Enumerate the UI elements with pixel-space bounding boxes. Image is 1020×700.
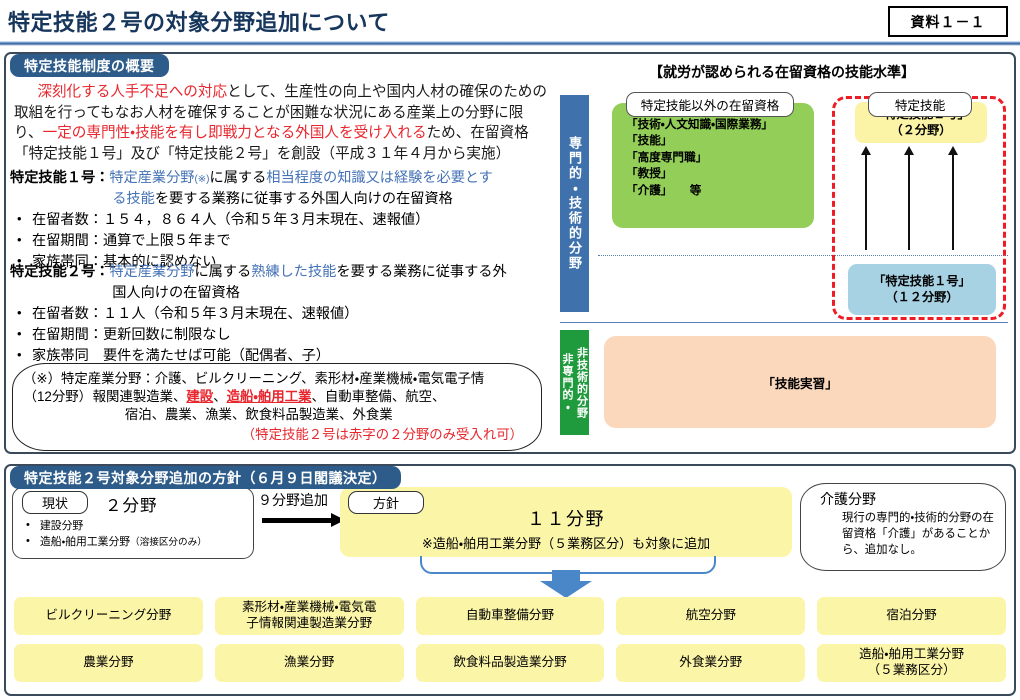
category-divider-solid [560,322,1008,323]
note-line2-wrap: （12分野）報関連製造業、建設、造船・舶用工業、自動車整備、航空、 [23,388,531,406]
field-box: 素形材・産業機械・電気電子情報関連製造業分野 [215,597,404,635]
field-row-1: ビルクリーニング分野 素形材・産業機械・電気電子情報関連製造業分野 自動車整備分… [14,597,1006,635]
list-item: 在留者数：１５４，８６４人（令和５年３月末現在、速報値） [10,210,550,231]
field-label-line1: 外食業分野 [679,655,742,671]
current-field-list: 建設分野 造船・舶用工業分野（溶接区分のみ） [20,518,250,551]
section-2-blue-1: 特定産業分野 [109,264,194,280]
green-item: 「教授」 [626,166,814,182]
field-label-line2: （５業務区分） [859,663,964,679]
section-1-blue-1: 特定産業分野 [109,170,194,186]
page-title: 特定技能２号の対象分野追加について [8,5,390,37]
field-label-line1: 飲食料品製造業分野 [453,655,566,671]
field-box: ビルクリーニング分野 [14,597,203,635]
note-label: （※）特定産業分野： [23,371,155,386]
added-fields-grid: ビルクリーニング分野 素形材・産業機械・電気電子情報関連製造業分野 自動車整備分… [14,597,1006,691]
ginou-jisshu-box: 「技能実習」 [604,336,996,428]
section-2-definition-line2: 国人向けの在留資格 [112,283,550,304]
slide-root: 特定技能２号の対象分野追加について 資料１－１ 特定技能制度の概要 深刻化する人… [0,0,1020,700]
field-box: 漁業分野 [215,644,404,682]
field-box: 航空分野 [616,597,805,635]
section-2-definition: 特定技能２号：特定産業分野に属する熟練した技能を要する業務に従事する外 国人向け… [10,262,550,303]
note-tail-red: （特定技能２号は赤字の２分野のみ受入れ可） [23,426,531,444]
skill-level-diagram: 【就労が認められる在留資格の技能水準】 専門的・技術的分野 非専門的・ 非技術的… [552,56,1012,450]
section-1-plain-1: に属する [210,170,267,186]
lead-red-2: 一定の専門性・技能を有し即戦力となる外国人を受け入れる [43,125,427,141]
tokutei-1-subtitle: （１２分野） [885,290,958,306]
note-count: （12分野） [23,388,93,406]
field-label-line1: 自動車整備分野 [466,608,554,624]
section-1-definition: 特定技能１号：特定産業分野(※)に属する相当程度の知識又は経験を必要とす る技能… [10,168,550,209]
field-label-line1: 農業分野 [83,655,133,671]
upgrade-arrow-1 [865,154,867,250]
policy-tag: 方針 [348,491,424,514]
caption-other-status: 特定技能以外の在留資格 [626,92,794,117]
section-tokutei-2: 特定技能２号：特定産業分野に属する熟練した技能を要する業務に従事する外 国人向け… [10,262,550,367]
list-item: 建設分野 [20,518,250,534]
field-label-line1: 素形材・産業機械・電気電 [242,600,377,616]
green-item: 「介護」 等 [626,183,814,199]
section-2-plain-1: に属する [194,264,251,280]
section-2-bullets: 在留者数：１１人（令和５年３月末現在、速報値） 在留期間：更新回数に制限なし 家… [10,304,550,367]
green-item: 「技能」 [626,133,814,149]
section-1-ref-mark: (※) [194,174,209,185]
field-label-line2: 子情報関連製造業分野 [242,616,377,632]
plan-note: ※造船・舶用工業分野（５業務区分）も対象に追加 [340,533,792,552]
section-1-heading: 特定技能１号： [10,170,109,186]
kaigo-title: 介護分野 [820,489,876,509]
list-item: 在留期間：更新回数に制限なし [10,325,550,346]
section-2-heading: 特定技能２号： [10,264,109,280]
section-tokutei-1: 特定技能１号：特定産業分野(※)に属する相当程度の知識又は経験を必要とす る技能… [10,168,550,273]
field-box: 宿泊分野 [817,597,1006,635]
field-label-line1: 宿泊分野 [886,608,936,624]
arrow-stem [552,570,580,581]
upgrade-arrow-3 [952,154,954,250]
current-field-count: ２分野 [105,492,158,516]
title-divider [0,41,1020,46]
vertical-label-nonprofessional: 非専門的・ 非技術的分野 [560,330,589,435]
note-red-kensetsu: 建設 [186,389,213,404]
title-row: 特定技能２号の対象分野追加について 資料１－１ [0,2,1020,42]
caption-tokutei-ginou: 特定技能 [868,92,972,117]
industry-fields-note: （※）特定産業分野：介護、ビルクリーニング、素形材・産業機械・電気電子情 （12… [12,363,542,451]
section-1-blue-3: る技能 [112,191,155,207]
field-box: 自動車整備分野 [416,597,605,635]
field-label-line1: 造船・舶用工業分野 [859,647,964,663]
note-line2-a: 報関連製造業、 [93,389,187,404]
current-tag: 現状 [22,491,88,514]
other-status-list-box: 「技術・人文知識・国際業務」 「技能」 「高度専門職」 「教授」 「介護」 等 [612,103,814,228]
field-box: 造船・舶用工業分野（５業務区分） [817,644,1006,682]
current-item-2-note: （溶接区分のみ） [130,537,207,548]
field-box: 農業分野 [14,644,203,682]
vertical-label-nonpro-line2: 非技術的分野 [574,330,589,435]
green-item: 「技術・人文知識・国際業務」 [626,117,814,133]
green-item: 「高度専門職」 [626,150,814,166]
note-line1: 介護、ビルクリーニング、素形材・産業機械・電気電子情 [155,371,485,386]
section-1-plain-2: を要する業務に従事する外国人向けの在留資格 [155,191,453,207]
arrow-head [540,581,592,598]
section-1-definition-line2: る技能を要する業務に従事する外国人向けの在留資格 [112,189,550,210]
field-box: 外食業分野 [616,644,805,682]
nine-fields-added-label: ９分野追加 [258,490,328,510]
field-box: 飲食料品製造業分野 [416,644,605,682]
note-line2-c: 、自動車整備、航空、 [311,389,445,404]
tokutei-1-box: 「特定技能１号」 （１２分野） [848,264,996,315]
field-label-line1: 漁業分野 [284,655,334,671]
lead-red-1: 深刻化する人手不足への対応 [37,84,227,100]
list-item: 在留者数：１１人（令和５年３月末現在、速報値） [10,304,550,325]
list-item: 在留期間：通算で上限５年まで [10,231,550,252]
field-label-line1: ビルクリーニング分野 [45,608,171,624]
note-red-zosen: 造船・舶用工業 [227,389,312,404]
vertical-label-professional: 専門的・技術的分野 [560,95,589,312]
level-divider-dotted [598,255,1008,256]
field-label-line1: 航空分野 [686,608,736,624]
overview-panel-heading: 特定技能制度の概要 [10,54,169,77]
current-item-2-label: 造船・舶用工業分野 [40,536,130,548]
transition-arrow [262,518,332,523]
upgrade-arrow-2 [908,154,910,250]
note-line2-b: 、 [213,389,226,404]
note-line3: 宿泊、農業、漁業、飲食料品製造業、外食業 [125,406,531,424]
field-row-2: 農業分野 漁業分野 飲食料品製造業分野 外食業分野 造船・舶用工業分野（５業務区… [14,644,1006,682]
section-2-plain-2: を要する業務に従事する外 [336,264,506,280]
policy-panel-heading: 特定技能２号対象分野追加の方針（６月９日閣議決定） [10,466,401,489]
diagram-title: 【就労が認められる在留資格の技能水準】 [552,62,1012,82]
section-2-blue-2: 熟練した技能 [251,264,336,280]
document-number-badge: 資料１－１ [888,6,1008,37]
list-item: 造船・舶用工業分野（溶接区分のみ） [20,534,250,550]
kaigo-body: 現行の専門的・技術的分野の在留資格「介護」があることから、追加なし。 [842,510,1002,559]
vertical-label-nonpro-line1: 非専門的・ [560,330,574,435]
tokutei-2-subtitle: （２分野） [891,123,952,139]
section-1-blue-2: 相当程度の知識又は経験を必要とす [266,170,493,186]
tokutei-1-title: 「特定技能１号」 [873,274,971,290]
overview-lead-paragraph: 深刻化する人手不足への対応として、生産性の向上や国内人材の確保のための取組を行っ… [14,82,548,165]
